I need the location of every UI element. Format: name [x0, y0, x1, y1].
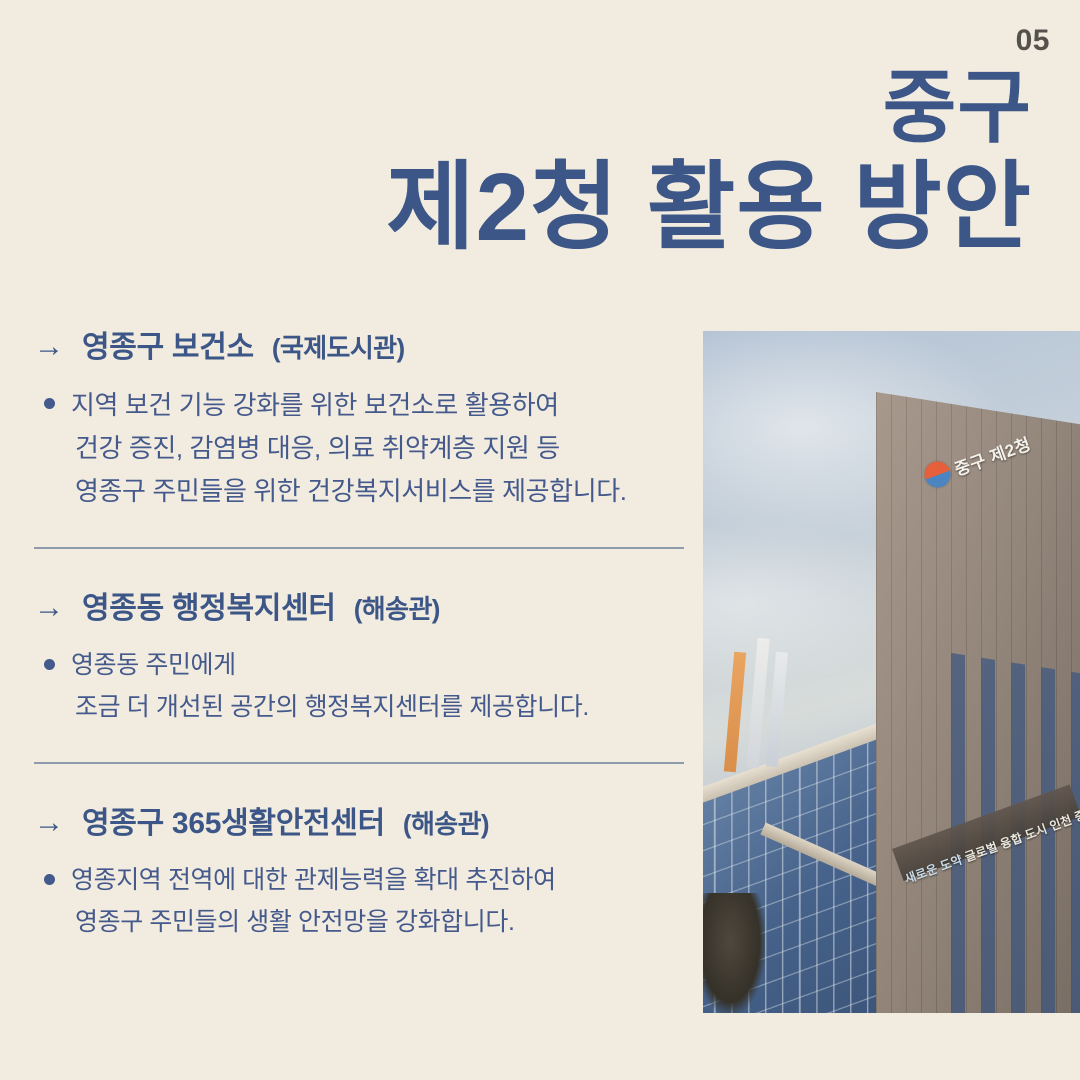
- page-number: 05: [1016, 26, 1050, 56]
- title-line-1: 중구: [386, 68, 1032, 148]
- bullet-list: 영종동 주민에게 조금 더 개선된 공간의 행정복지센터를 제공합니다.: [34, 645, 684, 728]
- section-heading-main: 영종구 보건소: [82, 322, 254, 366]
- page-title: 중구 제2청 활용 방안: [386, 68, 1032, 262]
- arrow-right-icon: →: [34, 593, 64, 623]
- bullet-line: 조금 더 개선된 공간의 행정복지센터를 제공합니다.: [71, 687, 589, 729]
- bullet-dot-icon: [44, 659, 55, 670]
- section-heading-main: 영종동 행정복지센터: [82, 583, 336, 627]
- bullet-line: 영종구 주민들의 생활 안전망을 강화합니다.: [71, 902, 556, 944]
- section-health-center: → 영종구 보건소 (국제도시관) 지역 보건 기능 강화를 위한 보건소로 활…: [34, 322, 684, 513]
- bullet-text: 영종지역 전역에 대한 관제능력을 확대 추진하여 영종구 주민들의 생활 안전…: [71, 860, 556, 943]
- bullet-dot-icon: [44, 874, 55, 885]
- section-community-center: → 영종동 행정복지센터 (해송관) 영종동 주민에게 조금 더 개선된 공간의…: [34, 583, 684, 728]
- bullet-list: 영종지역 전역에 대한 관제능력을 확대 추진하여 영종구 주민들의 생활 안전…: [34, 860, 684, 943]
- arrow-right-icon: →: [34, 332, 64, 362]
- arrow-right-icon: →: [34, 808, 64, 838]
- content-column: → 영종구 보건소 (국제도시관) 지역 보건 기능 강화를 위한 보건소로 활…: [34, 322, 684, 943]
- infographic-page: 05 중구 제2청 활용 방안 중구 제2청 새로운 도약 글로벌 융합 도시 …: [0, 0, 1080, 1080]
- list-item: 영종지역 전역에 대한 관제능력을 확대 추진하여 영종구 주민들의 생활 안전…: [34, 860, 684, 943]
- section-heading-paren: (해송관): [403, 804, 489, 841]
- section-heading-paren: (해송관): [354, 589, 440, 626]
- bullet-text: 지역 보건 기능 강화를 위한 보건소로 활용하여 건강 증진, 감염병 대응,…: [71, 384, 627, 513]
- photo-tower: [876, 392, 1080, 1013]
- photo-tree: [703, 893, 765, 1013]
- section-safety-center: → 영종구 365생활안전센터 (해송관) 영종지역 전역에 대한 관제능력을 …: [34, 798, 684, 943]
- section-divider-1: [34, 547, 684, 549]
- bullet-line: 영종지역 전역에 대한 관제능력을 확대 추진하여: [71, 860, 556, 902]
- section-heading-main: 영종구 365생활안전센터: [82, 798, 385, 842]
- list-item: 지역 보건 기능 강화를 위한 보건소로 활용하여 건강 증진, 감염병 대응,…: [34, 384, 684, 513]
- bullet-line: 영종구 주민들을 위한 건강복지서비스를 제공합니다.: [71, 470, 627, 513]
- bullet-dot-icon: [44, 398, 55, 409]
- list-item: 영종동 주민에게 조금 더 개선된 공간의 행정복지센터를 제공합니다.: [34, 645, 684, 728]
- bullet-text: 영종동 주민에게 조금 더 개선된 공간의 행정복지센터를 제공합니다.: [71, 645, 589, 728]
- section-heading: → 영종동 행정복지센터 (해송관): [34, 583, 684, 627]
- title-line-2: 제2청 활용 방안: [386, 154, 1032, 262]
- bullet-line: 지역 보건 기능 강화를 위한 보건소로 활용하여: [71, 384, 627, 427]
- section-heading-paren: (국제도시관): [272, 328, 405, 365]
- bullet-line: 영종동 주민에게: [71, 645, 589, 687]
- building-photo: 중구 제2청 새로운 도약 글로벌 융합 도시 인천 중구: [703, 331, 1080, 1013]
- section-heading: → 영종구 365생활안전센터 (해송관): [34, 798, 684, 842]
- section-divider-2: [34, 762, 684, 764]
- section-heading: → 영종구 보건소 (국제도시관): [34, 322, 684, 366]
- bullet-list: 지역 보건 기능 강화를 위한 보건소로 활용하여 건강 증진, 감염병 대응,…: [34, 384, 684, 513]
- bullet-line: 건강 증진, 감염병 대응, 의료 취약계층 지원 등: [71, 427, 627, 470]
